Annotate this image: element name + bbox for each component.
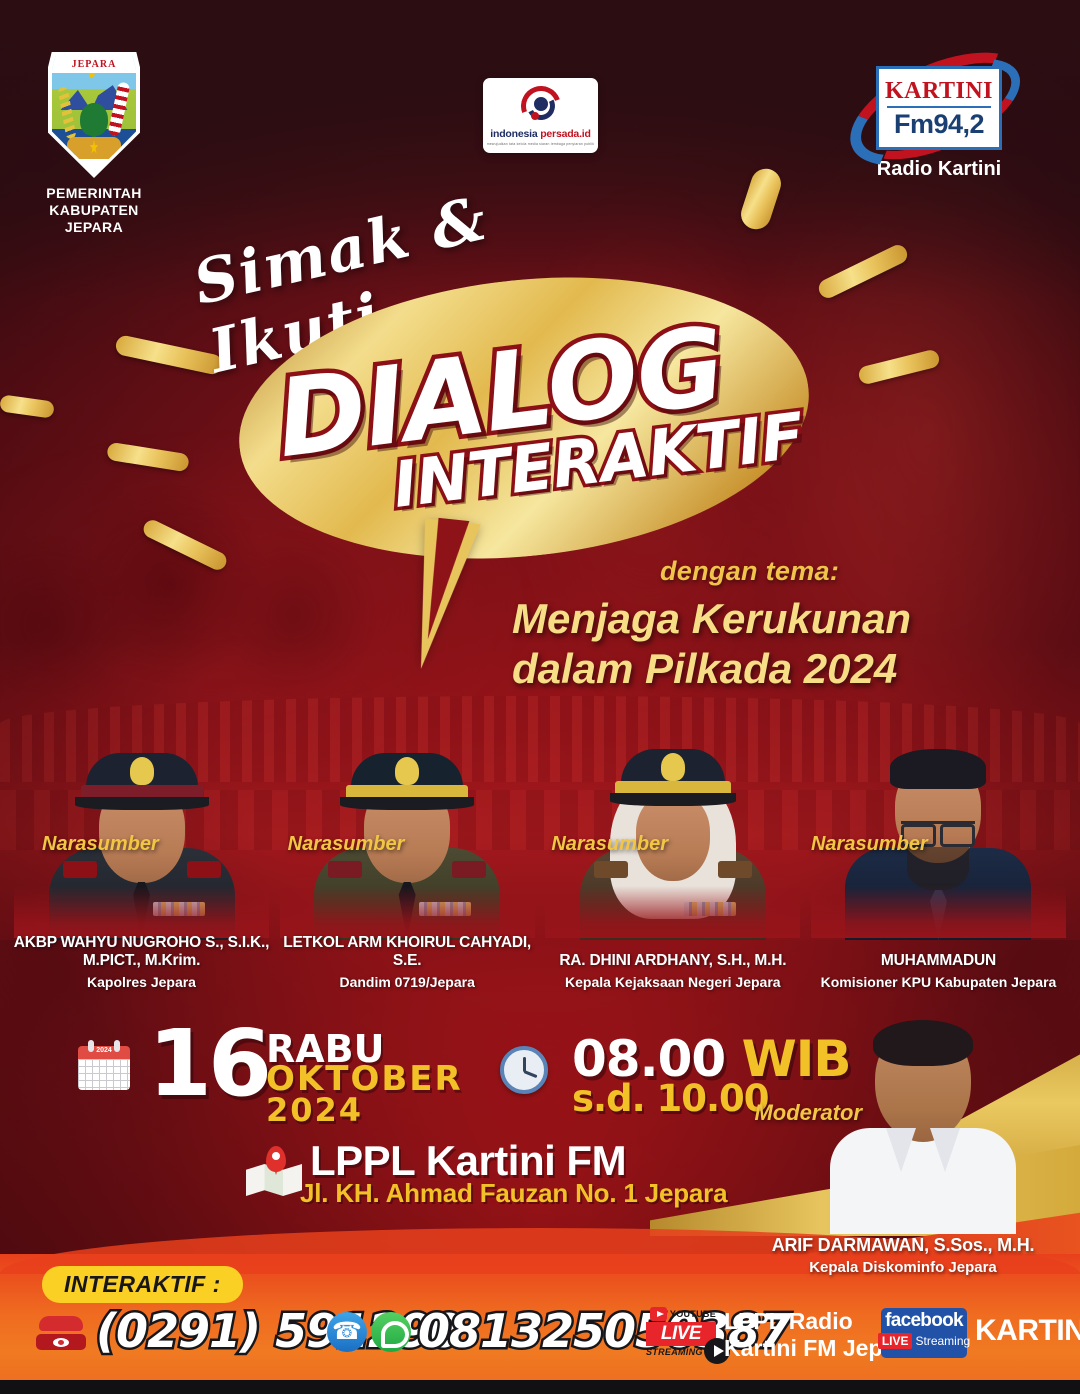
photo-fade <box>280 886 535 938</box>
indonesia-persada-logo: indonesia persada.id mewujudkan tata kel… <box>483 78 598 153</box>
event-date-number: 16 <box>148 1022 268 1107</box>
kartini-logo-box: KARTINI Fm94,2 <box>876 66 1002 150</box>
facebook-live-badge[interactable]: facebook LIVE Streaming <box>881 1308 967 1358</box>
speaker-card: Narasumber RA. DHINI ARDHANY, S.H., M.H.… <box>545 735 800 1000</box>
moderator-title: Kepala Diskominfo Jepara <box>738 1259 1068 1276</box>
whatsapp-icon <box>371 1312 411 1352</box>
speaker-role-label: Narasumber <box>551 833 668 856</box>
speaker-card: Narasumber MUHAMMADUN Komisioner KPU Kab… <box>811 735 1066 1000</box>
crest-tree-icon <box>80 103 109 136</box>
facebook-streaming-label: Streaming <box>915 1334 970 1348</box>
event-time-until: s.d. 10.00 <box>572 1080 769 1117</box>
speaker-card: Narasumber AKBP WAHYU NUGROHO S., S.I.K.… <box>14 735 269 1000</box>
speaker-role-label: Narasumber <box>811 833 928 856</box>
theme-label: dengan tema: <box>660 556 839 587</box>
kartini-fm-logo: KARTINI Fm94,2 Radio Kartini <box>844 62 1034 181</box>
speaker-name: LETKOL ARM KHOIRUL CAHYADI, S.E. <box>270 934 545 970</box>
photo-fade <box>811 886 1066 938</box>
youtube-streaming-label: STREAMING <box>646 1347 703 1357</box>
speaker-role-label: Narasumber <box>42 833 159 856</box>
speaker-title: Kepala Kejaksaan Negeri Jepara <box>545 974 800 990</box>
speaker-name: AKBP WAHYU NUGROHO S., S.I.K., M.PICT., … <box>4 934 279 970</box>
facebook-live-label: LIVE <box>878 1333 913 1349</box>
speaker-card: Narasumber LETKOL ARM KHOIRUL CAHYADI, S… <box>280 735 535 1000</box>
caption-line-3: JEPARA <box>38 219 150 236</box>
persada-logo-tagline: mewujudkan tata kelola media siaran lemb… <box>487 141 594 145</box>
persada-logo-name: indonesia persada.id <box>490 128 590 140</box>
caption-line-2: KABUPATEN <box>38 202 150 219</box>
speaker-role-label: Narasumber <box>288 833 405 856</box>
telephone-icon <box>36 1310 86 1350</box>
event-venue-address: Jl. KH. Ahmad Fauzan No. 1 Jepara <box>300 1180 727 1206</box>
persada-swirl-icon <box>521 86 561 126</box>
map-pin-icon <box>246 1146 302 1198</box>
persada-name-a: indonesia <box>490 128 540 140</box>
youtube-play-icon <box>650 1307 667 1321</box>
crest-rice-icon <box>58 86 77 139</box>
speaker-name: RA. DHINI ARDHANY, S.H., M.H. <box>535 952 810 970</box>
interaktif-label: INTERAKTIF : <box>42 1266 243 1303</box>
jepara-logo-caption: PEMERINTAH KABUPATEN JEPARA <box>38 185 150 236</box>
event-venue-name: LPPL Kartini FM <box>310 1140 626 1182</box>
event-year: 2024 <box>266 1094 363 1126</box>
jepara-crest-icon: JEPARA <box>48 52 140 178</box>
facebook-platform-label: facebook <box>881 1311 967 1330</box>
theme-line-2: dalam Pilkada 2024 <box>512 644 982 694</box>
photo-fade <box>14 886 269 938</box>
call-icon <box>327 1312 367 1352</box>
crest-base-icon <box>67 137 121 158</box>
persada-name-b: persada.id <box>540 128 591 140</box>
theme-text: Menjaga Kerukunan dalam Pilkada 2024 <box>512 594 982 695</box>
speaker-title: Kapolres Jepara <box>14 974 269 990</box>
moderator-name: ARIF DARMAWAN, S.Sos., M.H. <box>738 1235 1068 1256</box>
theme-line-1: Menjaga Kerukunan <box>512 594 982 644</box>
poster-root: JEPARA PEMERINTAH KABUPATEN JEPARA indon… <box>0 0 1080 1394</box>
kartini-logo-line1: KARTINI <box>885 79 993 103</box>
calendar-icon: 2024 <box>78 1040 130 1090</box>
speaker-name: MUHAMMADUN <box>801 952 1076 970</box>
speaker-title: Komisioner KPU Kabupaten Jepara <box>811 974 1066 990</box>
youtube-live-badge[interactable]: YOUTUBE LIVE STREAMING <box>646 1306 718 1362</box>
jepara-government-logo: JEPARA PEMERINTAH KABUPATEN JEPARA <box>38 52 150 236</box>
clock-icon <box>500 1046 548 1094</box>
caption-line-1: PEMERINTAH <box>38 185 150 202</box>
moderator-photo <box>828 1018 1018 1234</box>
speaker-title: Dandim 0719/Jepara <box>280 974 535 990</box>
kartini-logo-line2: Fm94,2 <box>894 111 984 138</box>
youtube-platform-label: YOUTUBE <box>670 1309 716 1319</box>
kartini-logo-divider <box>887 106 991 108</box>
crest-band-label: JEPARA <box>52 56 136 73</box>
speakers-row: Narasumber AKBP WAHYU NUGROHO S., S.I.K.… <box>0 735 1080 1000</box>
moderator-role-label: Moderator <box>754 1100 862 1126</box>
photo-fade <box>545 886 800 938</box>
facebook-page-name: KARTINI <box>975 1314 1080 1348</box>
